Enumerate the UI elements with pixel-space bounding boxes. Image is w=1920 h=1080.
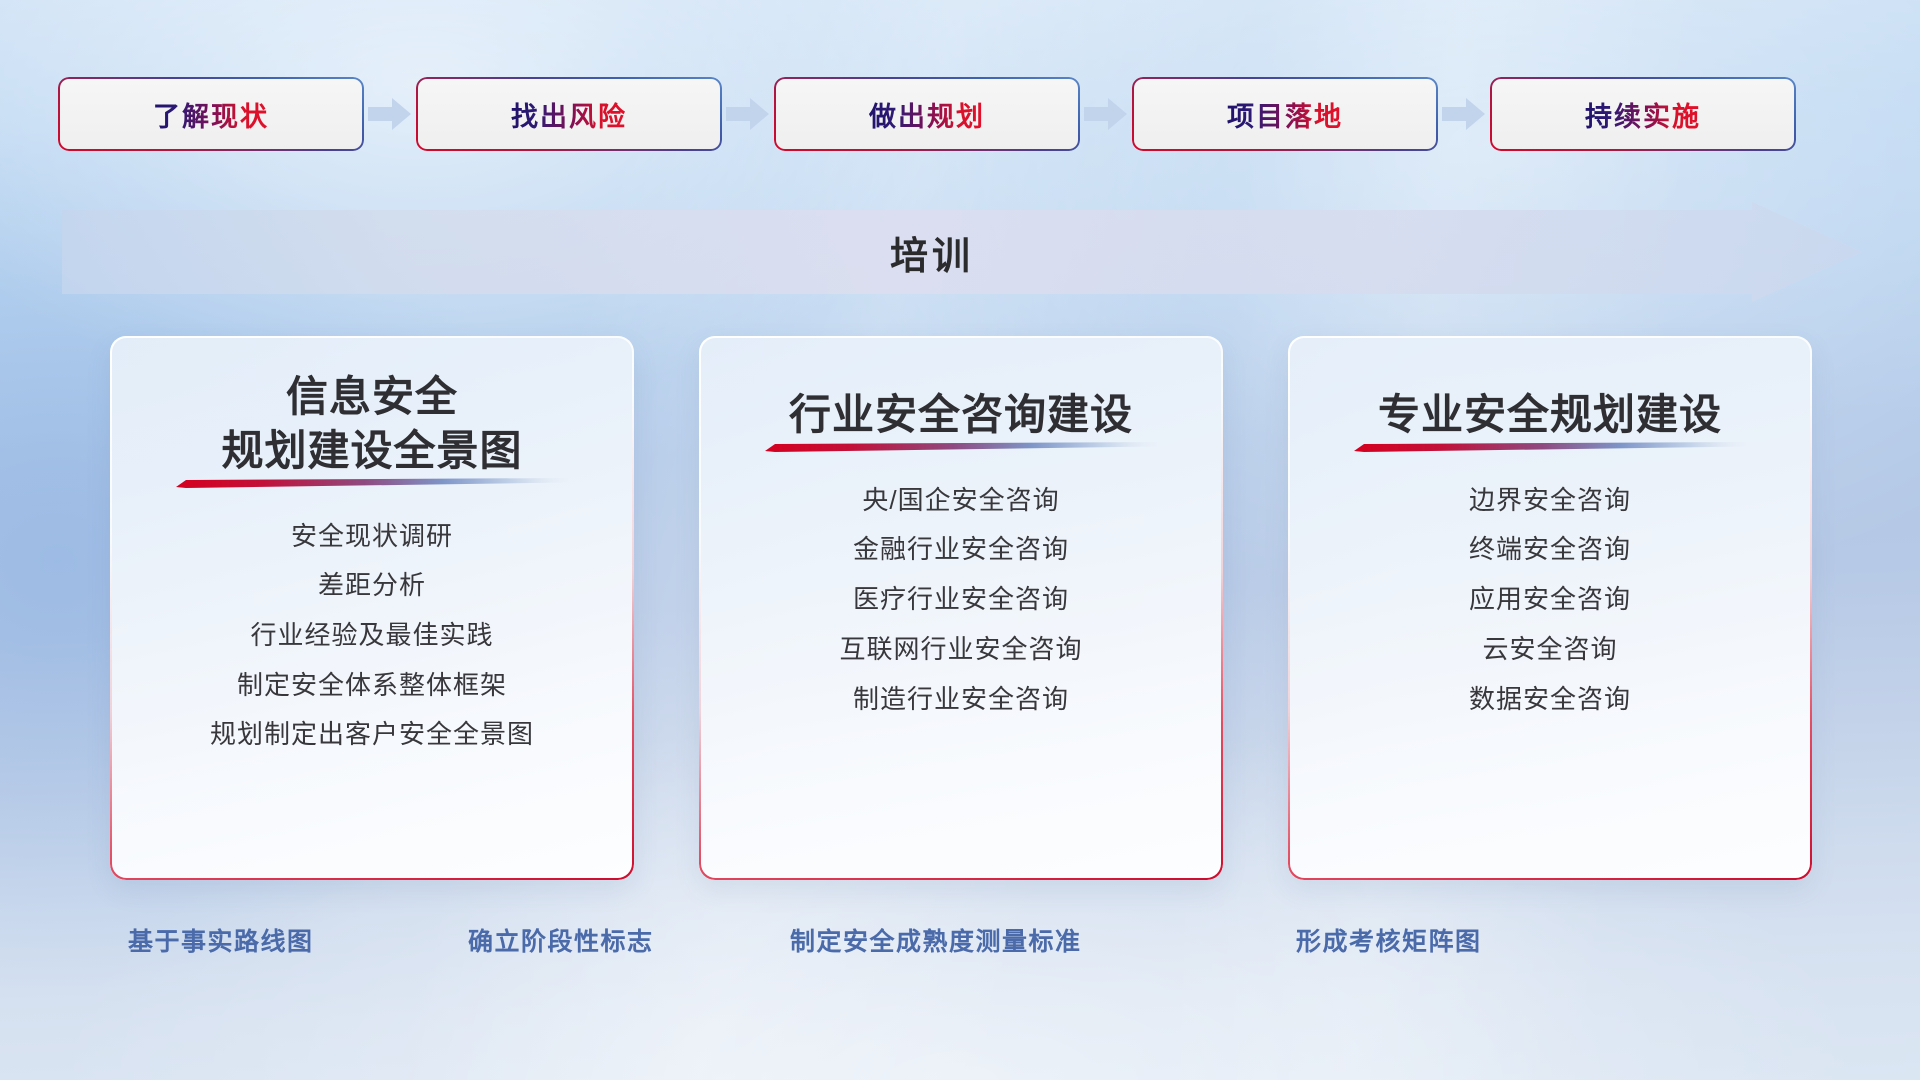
arrow-right-icon: [362, 79, 418, 149]
card-information-security-blueprint[interactable]: 信息安全 规划建设全景图: [110, 336, 634, 880]
list-item: 医疗行业安全咨询: [853, 581, 1069, 619]
list-item: 行业经验及最佳实践: [250, 617, 493, 655]
list-item: 互联网行业安全咨询: [839, 631, 1082, 669]
process-step-1: 了解现状: [60, 79, 418, 149]
list-item: 央/国企安全咨询: [862, 482, 1059, 520]
card-item-list: 边界安全咨询 终端安全咨询 应用安全咨询 云安全咨询 数据安全咨询: [1288, 482, 1812, 718]
footnote-roadmap: 基于事实路线图: [128, 922, 314, 958]
step-chip-find-risk[interactable]: 找出风险: [418, 79, 720, 149]
arrow-right-icon: [720, 79, 776, 149]
training-band: 培训: [62, 202, 1862, 302]
step-label: 做出规划: [869, 95, 985, 134]
footnote-matrix: 形成考核矩阵图: [1296, 922, 1482, 958]
list-item: 差距分析: [318, 567, 426, 605]
process-step-3: 做出规划: [776, 79, 1134, 149]
arrow-right-icon: [1078, 79, 1134, 149]
card-item-list: 安全现状调研 差距分析 行业经验及最佳实践 制定安全体系整体框架 规划制定出客户…: [110, 518, 634, 754]
card-title: 信息安全 规划建设全景图: [110, 370, 634, 478]
list-item: 规划制定出客户安全全景图: [210, 716, 534, 754]
list-item: 云安全咨询: [1482, 631, 1617, 669]
list-item: 安全现状调研: [291, 518, 453, 556]
process-step-4: 项目落地: [1134, 79, 1492, 149]
list-item: 边界安全咨询: [1469, 482, 1631, 520]
step-chip-understand-status[interactable]: 了解现状: [60, 79, 362, 149]
process-step-5: 持续实施: [1492, 79, 1794, 149]
step-label: 找出风险: [511, 95, 627, 134]
arrow-right-icon: [1436, 79, 1492, 149]
list-item: 制定安全体系整体框架: [237, 667, 507, 705]
list-item: 应用安全咨询: [1469, 581, 1631, 619]
footnote-maturity: 制定安全成熟度测量标准: [790, 922, 1082, 958]
step-chip-project-landing[interactable]: 项目落地: [1134, 79, 1436, 149]
card-title: 专业安全规划建设: [1288, 388, 1812, 442]
process-step-2: 找出风险: [418, 79, 776, 149]
card-divider: [765, 442, 1157, 452]
card-title: 行业安全咨询建设: [699, 388, 1223, 442]
step-label: 持续实施: [1585, 95, 1701, 134]
footnote-milestone: 确立阶段性标志: [468, 922, 654, 958]
step-chip-continuous-implementation[interactable]: 持续实施: [1492, 79, 1794, 149]
list-item: 终端安全咨询: [1469, 531, 1631, 569]
card-industry-security-consulting[interactable]: 行业安全咨询建设: [699, 336, 1223, 880]
card-divider: [176, 478, 568, 488]
slide-canvas: 了解现状 找出风险 做出规划: [0, 0, 1920, 1080]
list-item: 制造行业安全咨询: [853, 681, 1069, 719]
training-band-label: 培训: [62, 202, 1802, 302]
list-item: 数据安全咨询: [1469, 681, 1631, 719]
card-item-list: 央/国企安全咨询 金融行业安全咨询 医疗行业安全咨询 互联网行业安全咨询 制造行…: [699, 482, 1223, 718]
step-chip-make-plan[interactable]: 做出规划: [776, 79, 1078, 149]
list-item: 金融行业安全咨询: [853, 531, 1069, 569]
step-label: 了解现状: [153, 95, 269, 134]
footnote-row: 基于事实路线图 确立阶段性标志 制定安全成熟度测量标准 形成考核矩阵图: [0, 922, 1920, 966]
card-row: 信息安全 规划建设全景图: [110, 336, 1812, 880]
step-label: 项目落地: [1227, 95, 1343, 134]
card-professional-security-planning[interactable]: 专业安全规划建设: [1288, 336, 1812, 880]
process-step-row: 了解现状 找出风险 做出规划: [60, 78, 1860, 150]
card-divider: [1354, 442, 1746, 452]
